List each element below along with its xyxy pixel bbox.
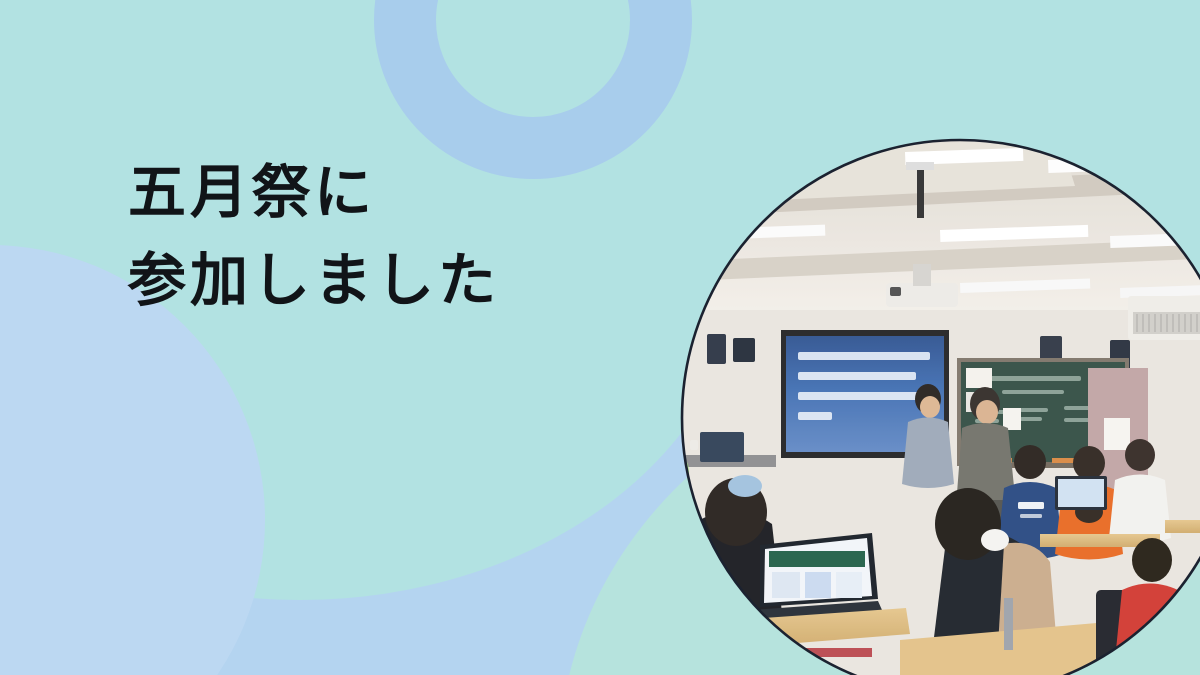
cup-1 <box>672 438 681 450</box>
classroom-photo <box>0 0 1200 675</box>
photo-content <box>655 120 1200 675</box>
photo-light-wash <box>660 120 1200 675</box>
page-title: 五月祭に 参加しました <box>128 148 500 324</box>
balloon-string <box>671 493 673 536</box>
title-line-1: 五月祭に <box>128 148 500 236</box>
slide-canvas: 五月祭に 参加しました <box>0 0 1200 675</box>
title-line-2: 参加しました <box>128 236 500 324</box>
